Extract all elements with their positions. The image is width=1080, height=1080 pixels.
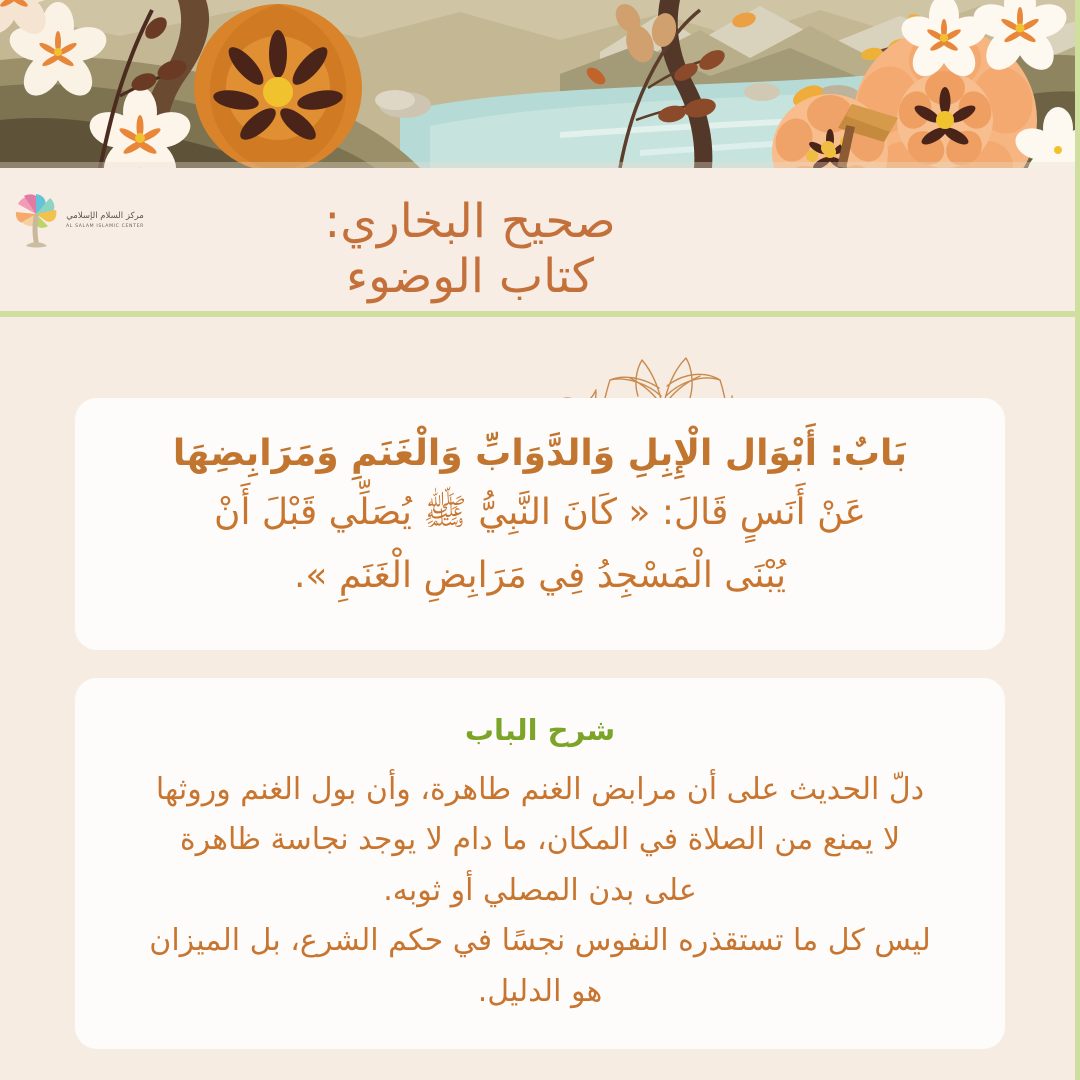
page-title: صحيح البخاري: كتاب الوضوء — [0, 194, 1080, 305]
explanation-card: شرح الباب دلّ الحديث على أن مرابض الغنم … — [75, 678, 1005, 1049]
explanation-line: لا يمنع من الصلاة في المكان، ما دام لا ي… — [115, 816, 965, 865]
explanation-heading: شرح الباب — [115, 712, 965, 750]
hadith-text-line: يُبْنَى الْمَسْجِدُ فِي مَرَابِضِ الْغَن… — [113, 548, 967, 605]
title-line-1: صحيح البخاري: — [0, 194, 940, 249]
explanation-line: ليس كل ما تستقذره النفوس نجسًا في حكم ال… — [115, 917, 965, 966]
green-divider — [0, 311, 1080, 317]
hadith-card: بَابٌ: أَبْوَال الْإِبِلِ وَالدَّوَابِّ … — [75, 398, 1005, 650]
explanation-line: دلّ الحديث على أن مرابض الغنم طاهرة، وأن… — [115, 766, 965, 815]
header-bar: مركز السلام الإسلامي AL SALAM ISLAMIC CE… — [0, 168, 1080, 313]
explanation-line: على بدن المصلي أو ثوبه. — [115, 867, 965, 916]
title-line-2: كتاب الوضوء — [0, 249, 940, 304]
explanation-line: هو الدليل. — [115, 968, 965, 1017]
hadith-text-line: عَنْ أَنَسٍ قَالَ: « كَانَ النَّبِيُّ ﷺ … — [113, 485, 967, 542]
poster-root: مركز السلام الإسلامي AL SALAM ISLAMIC CE… — [0, 0, 1080, 1080]
chapter-title: بَابٌ: أَبْوَال الْإِبِلِ وَالدَّوَابِّ … — [113, 428, 967, 479]
hero-illustration — [0, 0, 1080, 168]
